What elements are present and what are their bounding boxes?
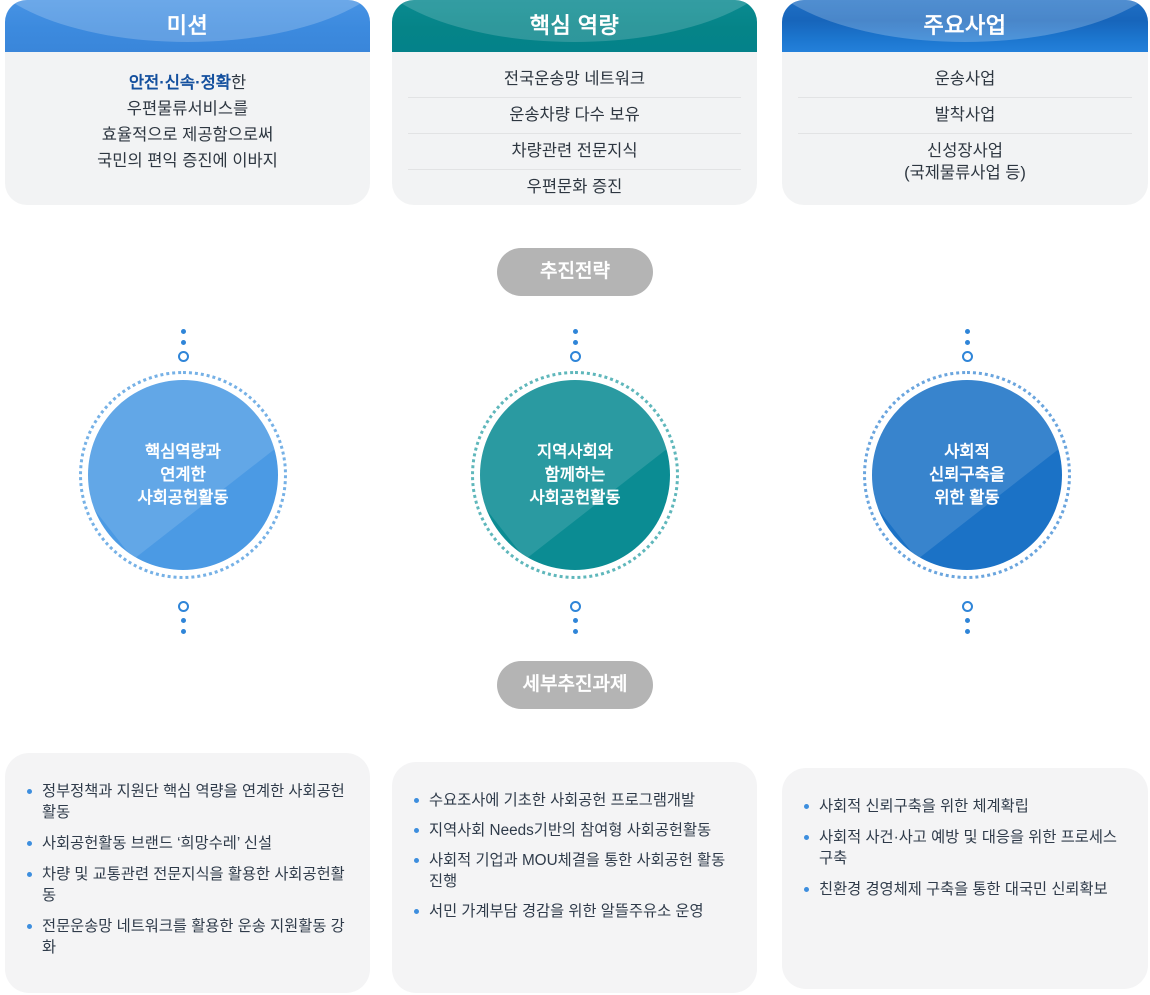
connector-ring-icon	[570, 601, 581, 612]
connector-top-2	[566, 326, 584, 365]
tasks-panel-2: 수요조사에 기초한 사회공헌 프로그램개발 지역사회 Needs기반의 참여형 …	[392, 762, 757, 993]
card-main-business-body: 운송사업 발착사업 신성장사업 (국제물류사업 등)	[782, 52, 1148, 195]
strategy-circle-2-text: 지역사회와 함께하는 사회공헌활동	[480, 380, 670, 570]
connector-dot-icon	[181, 340, 186, 345]
connector-bottom-1	[174, 598, 192, 637]
connector-dot-icon	[965, 629, 970, 634]
tasks-panel-1: 정부정책과 지원단 핵심 역량을 연계한 사회공헌활동 사회공헌활동 브랜드 ‘…	[5, 753, 370, 993]
card-mission-title: 미션	[5, 0, 370, 52]
connector-dot-icon	[965, 329, 970, 334]
mission-line-2: 효율적으로 제공함으로써	[21, 122, 354, 148]
strategy-circle-3-body: 사회적 신뢰구축을 위한 활동	[872, 380, 1062, 570]
list-item: 발착사업	[798, 97, 1132, 133]
connector-dot-icon	[573, 329, 578, 334]
connector-top-3	[958, 326, 976, 365]
list-item: 사회적 사건·사고 예방 및 대응을 위한 프로세스 구축	[802, 827, 1128, 869]
list-item: 차량관련 전문지식	[408, 133, 741, 169]
card-mission: 미션 안전·신속·정확한 우편물류서비스를 효율적으로 제공함으로써 국민의 편…	[5, 0, 370, 205]
list-item: 운송차량 다수 보유	[408, 97, 741, 133]
list-item-label: 신성장사업	[927, 142, 1003, 160]
connector-ring-icon	[178, 351, 189, 362]
connector-dot-icon	[181, 618, 186, 623]
core-competency-list: 전국운송망 네트워크 운송차량 다수 보유 차량관련 전문지식 우편문화 증진	[408, 62, 741, 205]
tasks-list-3: 사회적 신뢰구축을 위한 체계확립 사회적 사건·사고 예방 및 대응을 위한 …	[802, 796, 1128, 900]
connector-ring-icon	[178, 601, 189, 612]
mission-statement: 안전·신속·정확한 우편물류서비스를 효율적으로 제공함으로써 국민의 편익 증…	[21, 62, 354, 174]
card-mission-body: 안전·신속·정확한 우편물류서비스를 효율적으로 제공함으로써 국민의 편익 증…	[5, 52, 370, 195]
list-item: 사회적 기업과 MOU체결을 통한 사회공헌 활동 진행	[412, 850, 737, 892]
card-core-competency-header: 핵심 역량	[392, 0, 757, 52]
list-item: 전국운송망 네트워크	[408, 62, 741, 97]
circle-line: 신뢰구축을	[929, 464, 1005, 487]
connector-bottom-3	[958, 598, 976, 637]
card-core-competency: 핵심 역량 전국운송망 네트워크 운송차량 다수 보유 차량관련 전문지식 우편…	[392, 0, 757, 205]
circle-line: 연계한	[160, 464, 206, 487]
connector-ring-icon	[962, 601, 973, 612]
list-item: 수요조사에 기초한 사회공헌 프로그램개발	[412, 790, 737, 811]
strategy-circle-3: 사회적 신뢰구축을 위한 활동	[872, 380, 1062, 570]
connector-dot-icon	[573, 618, 578, 623]
card-main-business-header: 주요사업	[782, 0, 1148, 52]
list-item: 전문운송망 네트워크를 활용한 운송 지원활동 강화	[25, 916, 350, 958]
label-detailed-tasks: 세부추진과제	[497, 661, 653, 709]
strategy-circle-2: 지역사회와 함께하는 사회공헌활동	[480, 380, 670, 570]
connector-ring-icon	[962, 351, 973, 362]
tasks-panel-3: 사회적 신뢰구축을 위한 체계확립 사회적 사건·사고 예방 및 대응을 위한 …	[782, 768, 1148, 989]
mission-line-accent: 안전·신속·정확한	[21, 70, 354, 96]
connector-dot-icon	[965, 618, 970, 623]
list-item: 차량 및 교통관련 전문지식을 활용한 사회공헌활동	[25, 864, 350, 906]
mission-line-3: 국민의 편익 증진에 이바지	[21, 148, 354, 174]
connector-dot-icon	[181, 329, 186, 334]
list-item: 우편문화 증진	[408, 169, 741, 205]
connector-dot-icon	[573, 629, 578, 634]
card-main-business: 주요사업 운송사업 발착사업 신성장사업 (국제물류사업 등)	[782, 0, 1148, 205]
list-item: 친환경 경영체제 구축을 통한 대국민 신뢰확보	[802, 879, 1128, 900]
card-mission-header: 미션	[5, 0, 370, 52]
strategy-circle-1: 핵심역량과 연계한 사회공헌활동	[88, 380, 278, 570]
connector-top-1	[174, 326, 192, 365]
list-item-sublabel: (국제물류사업 등)	[798, 162, 1132, 184]
mission-accent-text: 안전·신속·정확	[129, 74, 231, 92]
list-item: 정부정책과 지원단 핵심 역량을 연계한 사회공헌활동	[25, 781, 350, 823]
strategy-circle-3-text: 사회적 신뢰구축을 위한 활동	[872, 380, 1062, 570]
card-core-competency-body: 전국운송망 네트워크 운송차량 다수 보유 차량관련 전문지식 우편문화 증진	[392, 52, 757, 195]
connector-dot-icon	[965, 340, 970, 345]
list-item: 운송사업	[798, 62, 1132, 97]
connector-dot-icon	[573, 340, 578, 345]
tasks-list-1: 정부정책과 지원단 핵심 역량을 연계한 사회공헌활동 사회공헌활동 브랜드 ‘…	[25, 781, 350, 958]
connector-bottom-2	[566, 598, 584, 637]
mission-line-1: 우편물류서비스를	[21, 96, 354, 122]
circle-line: 위한 활동	[934, 487, 999, 510]
strategy-circle-1-body: 핵심역량과 연계한 사회공헌활동	[88, 380, 278, 570]
circle-line: 사회공헌활동	[529, 487, 620, 510]
circle-line: 함께하는	[545, 464, 606, 487]
strategy-circle-2-body: 지역사회와 함께하는 사회공헌활동	[480, 380, 670, 570]
card-core-competency-title: 핵심 역량	[392, 0, 757, 52]
list-item: 사회공헌활동 브랜드 ‘희망수레’ 신설	[25, 833, 350, 854]
main-business-list: 운송사업 발착사업 신성장사업 (국제물류사업 등)	[798, 62, 1132, 191]
label-strategy: 추진전략	[497, 248, 653, 296]
circle-line: 핵심역량과	[145, 441, 221, 464]
circle-line: 사회적	[944, 441, 990, 464]
connector-dot-icon	[181, 629, 186, 634]
strategy-circle-1-text: 핵심역량과 연계한 사회공헌활동	[88, 380, 278, 570]
card-main-business-title: 주요사업	[782, 0, 1148, 52]
mission-accent-suffix: 한	[231, 74, 246, 92]
list-item: 지역사회 Needs기반의 참여형 사회공헌활동	[412, 820, 737, 841]
list-item: 사회적 신뢰구축을 위한 체계확립	[802, 796, 1128, 817]
tasks-list-2: 수요조사에 기초한 사회공헌 프로그램개발 지역사회 Needs기반의 참여형 …	[412, 790, 737, 922]
circle-line: 사회공헌활동	[137, 487, 228, 510]
connector-ring-icon	[570, 351, 581, 362]
circle-line: 지역사회와	[537, 441, 613, 464]
list-item: 신성장사업 (국제물류사업 등)	[798, 133, 1132, 191]
list-item: 서민 가계부담 경감을 위한 알뜰주유소 운영	[412, 901, 737, 922]
